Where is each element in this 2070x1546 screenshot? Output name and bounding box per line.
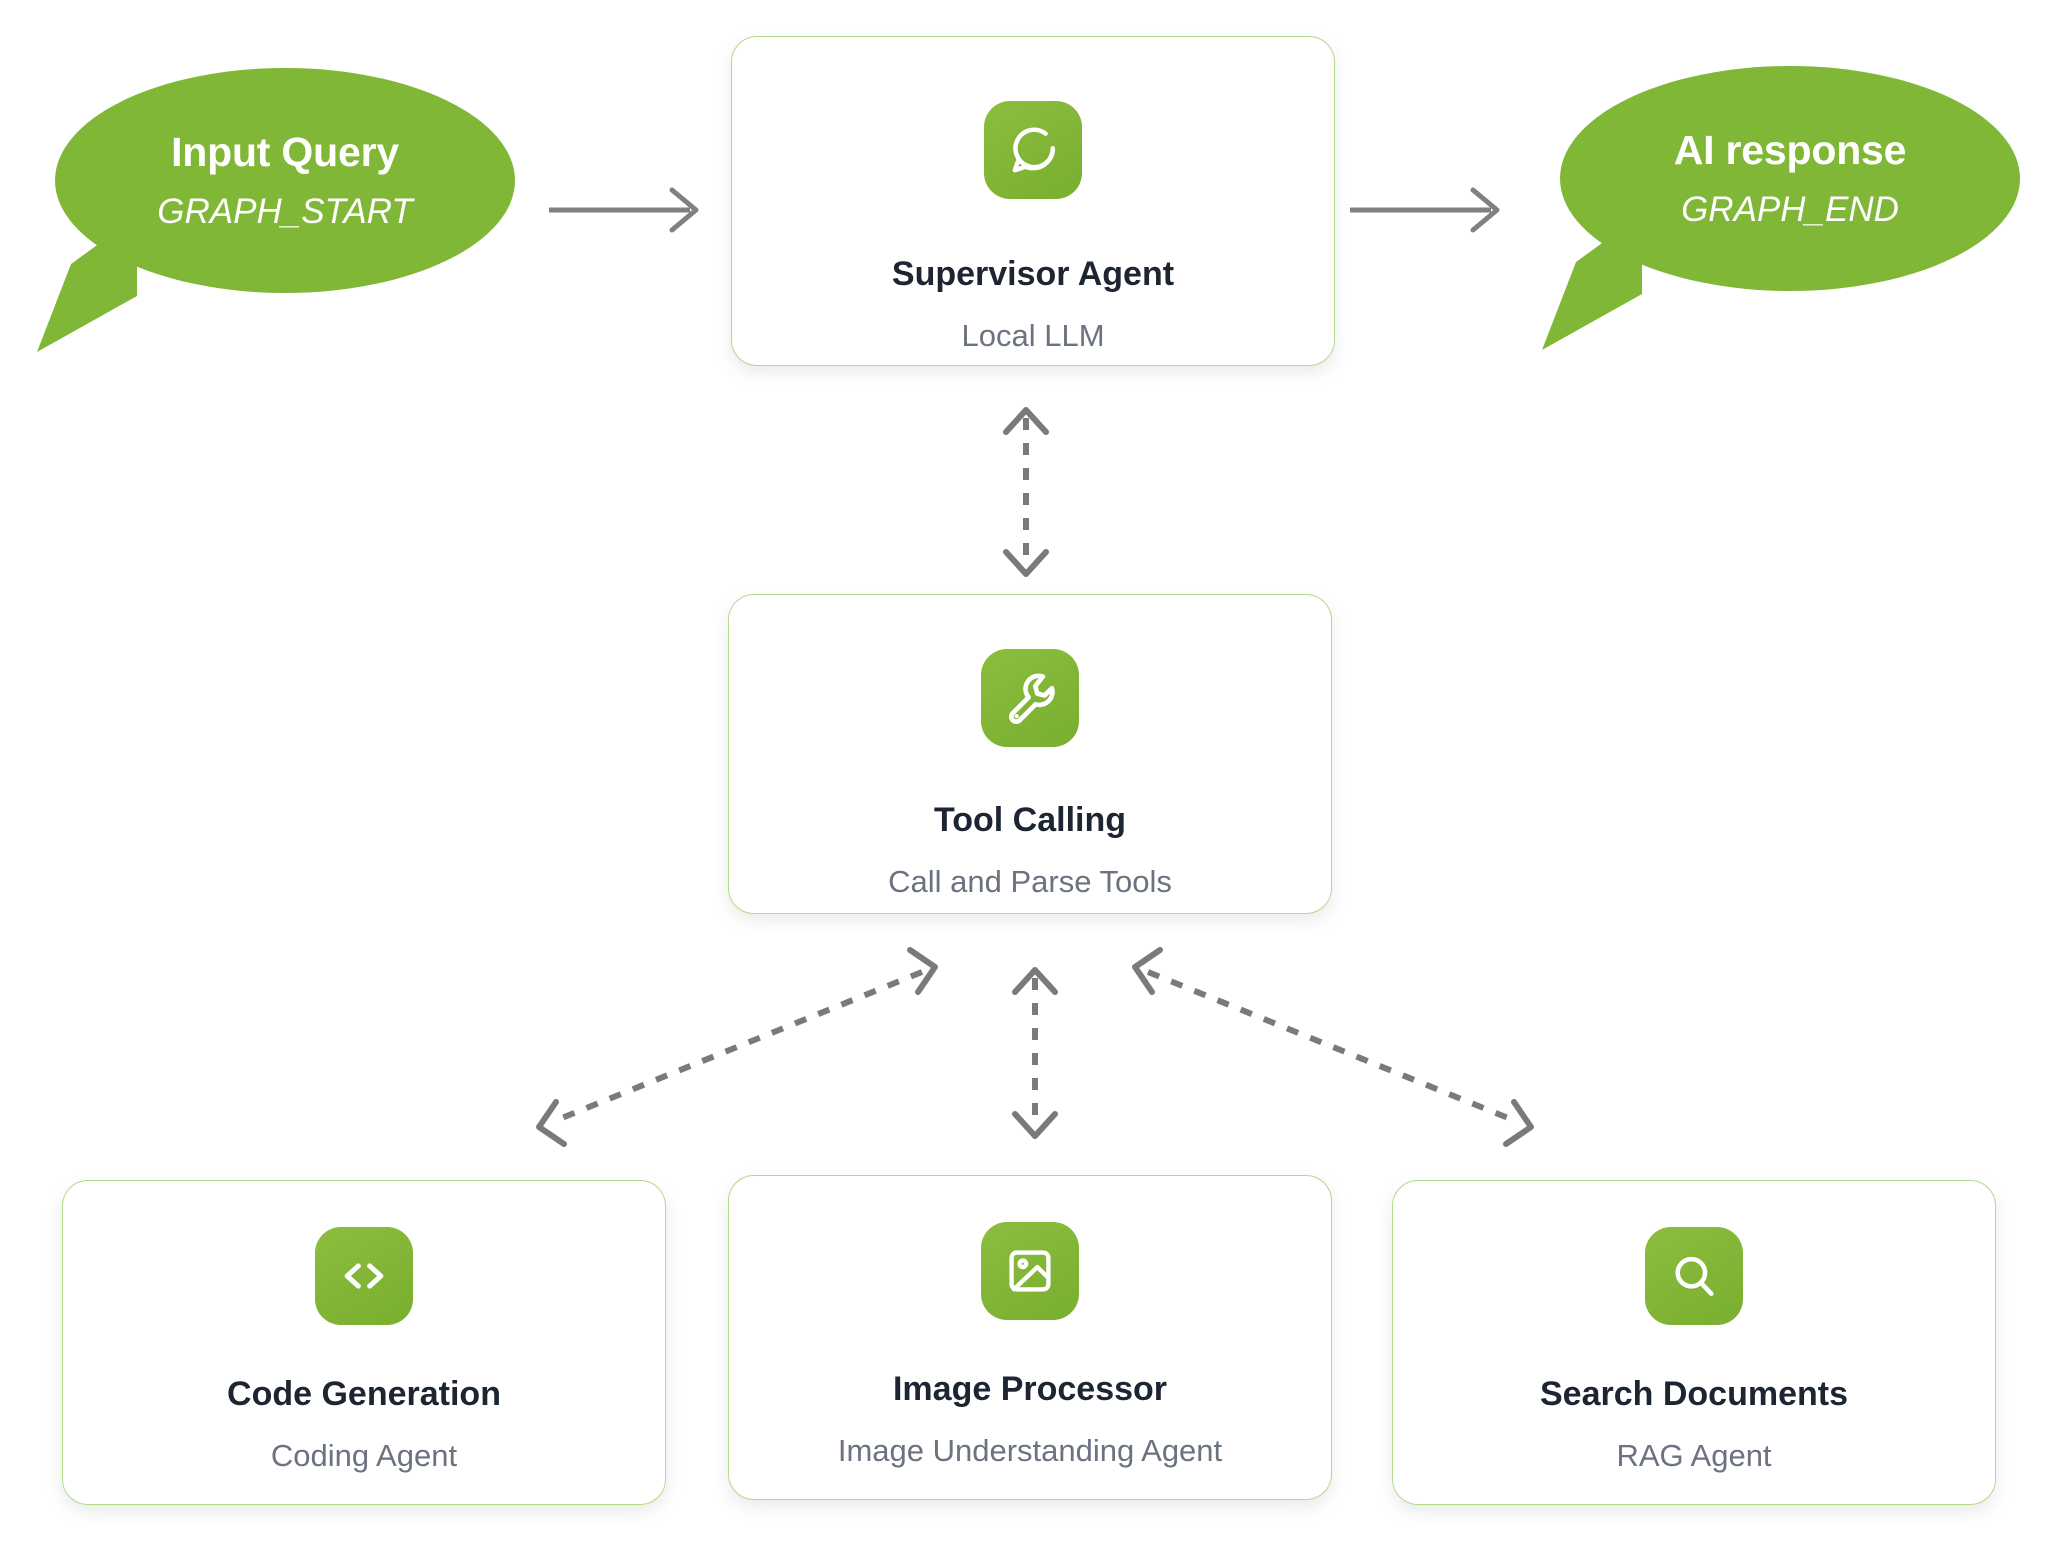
image-icon — [981, 1222, 1079, 1320]
supervisor-agent-subtitle: Local LLM — [961, 318, 1104, 354]
connector-tool-calling-to-image-processor — [1015, 970, 1055, 1136]
node-image-processor[interactable]: Image Processor Image Understanding Agen… — [728, 1175, 1332, 1500]
input-query-title: Input Query — [55, 130, 515, 175]
ai-response-title: AI response — [1560, 128, 2020, 173]
search-documents-title: Search Documents — [1540, 1375, 1848, 1414]
node-ai-response[interactable]: AI response GRAPH_END — [1560, 66, 2020, 291]
connector-tool-calling-to-search-documents — [1135, 950, 1531, 1144]
tool-calling-title: Tool Calling — [934, 801, 1126, 840]
code-brackets-icon — [315, 1227, 413, 1325]
node-tool-calling[interactable]: Tool Calling Call and Parse Tools — [728, 594, 1332, 914]
node-search-documents[interactable]: Search Documents RAG Agent — [1392, 1180, 1996, 1505]
image-processor-subtitle: Image Understanding Agent — [838, 1433, 1222, 1469]
tool-calling-subtitle: Call and Parse Tools — [888, 864, 1172, 900]
ai-response-subtitle: GRAPH_END — [1560, 191, 2020, 230]
connector-tool-calling-to-code-generation — [539, 950, 935, 1144]
wrench-icon — [981, 649, 1079, 747]
node-supervisor-agent[interactable]: Supervisor Agent Local LLM — [731, 36, 1335, 366]
chat-bubble-icon — [984, 101, 1082, 199]
connector-supervisor-to-tool-calling — [1006, 410, 1046, 574]
connector-input-to-supervisor — [549, 190, 696, 230]
code-generation-title: Code Generation — [227, 1375, 501, 1414]
bubble-tail — [1542, 214, 1672, 350]
bubble-tail — [37, 216, 167, 352]
ai-response-text: AI response GRAPH_END — [1560, 128, 2020, 230]
node-input-query[interactable]: Input Query GRAPH_START — [55, 68, 515, 293]
node-code-generation[interactable]: Code Generation Coding Agent — [62, 1180, 666, 1505]
connector-supervisor-to-response — [1350, 190, 1497, 230]
diagram-canvas: Input Query GRAPH_START Supervisor Agent… — [0, 0, 2070, 1546]
magnifier-icon — [1645, 1227, 1743, 1325]
input-query-text: Input Query GRAPH_START — [55, 130, 515, 232]
image-processor-title: Image Processor — [893, 1370, 1167, 1409]
code-generation-subtitle: Coding Agent — [271, 1438, 457, 1474]
supervisor-agent-title: Supervisor Agent — [892, 255, 1174, 294]
search-documents-subtitle: RAG Agent — [1616, 1438, 1771, 1474]
input-query-subtitle: GRAPH_START — [55, 193, 515, 232]
